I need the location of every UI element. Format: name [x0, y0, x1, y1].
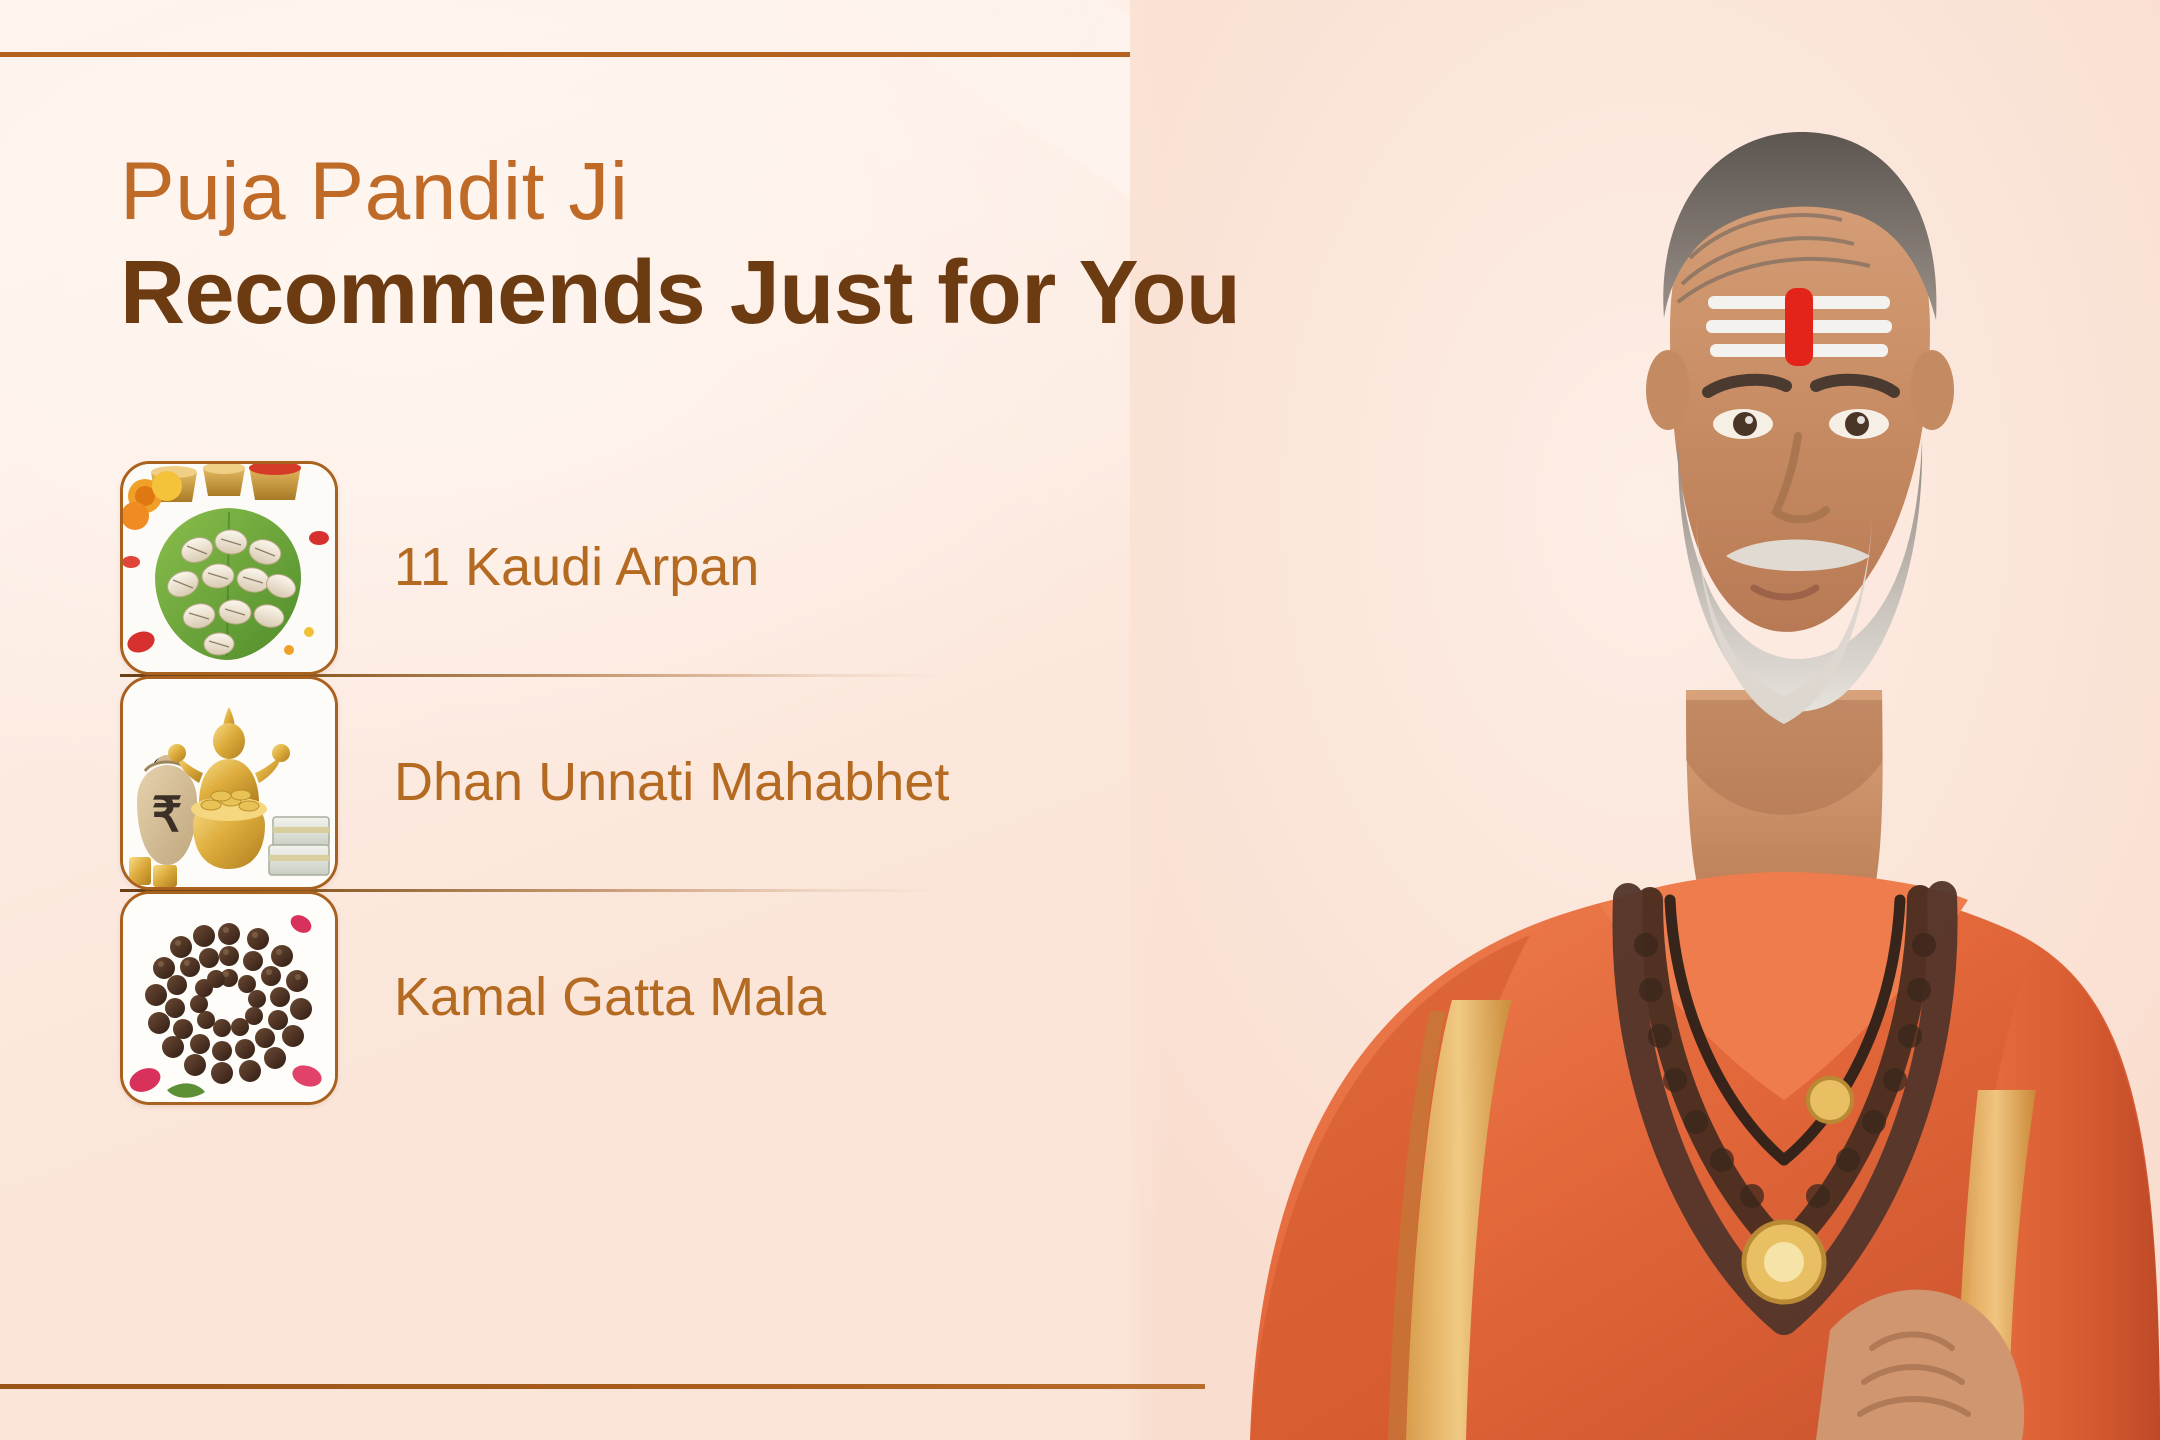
bottom-divider-rule [0, 1384, 1205, 1389]
list-item[interactable]: Kamal Gatta Mala [120, 892, 960, 1104]
headline-line-2: Recommends Just for You [120, 248, 1240, 340]
recommendation-list: 11 Kaudi Arpan [120, 462, 960, 1104]
headline-block: Puja Pandit Ji Recommends Just for You [120, 150, 1240, 339]
kaudi-on-betel-leaf-image[interactable] [120, 461, 338, 675]
list-item[interactable]: 11 Kaudi Arpan [120, 462, 960, 674]
list-item-label: Dhan Unnati Mahabhet [394, 748, 949, 817]
list-item-label: 11 Kaudi Arpan [394, 533, 759, 602]
pandit-portrait [1130, 0, 2160, 1440]
list-item-label: Kamal Gatta Mala [394, 963, 826, 1032]
list-item[interactable]: ₹ [120, 677, 960, 889]
headline-line-1: Puja Pandit Ji [120, 150, 1240, 234]
kamal-gatta-mala-beads-image[interactable] [120, 891, 338, 1105]
lakshmi-idol-with-money-image[interactable]: ₹ [120, 676, 338, 890]
recommendation-banner: Puja Pandit Ji Recommends Just for You [0, 0, 2160, 1440]
svg-text:₹: ₹ [152, 789, 183, 842]
